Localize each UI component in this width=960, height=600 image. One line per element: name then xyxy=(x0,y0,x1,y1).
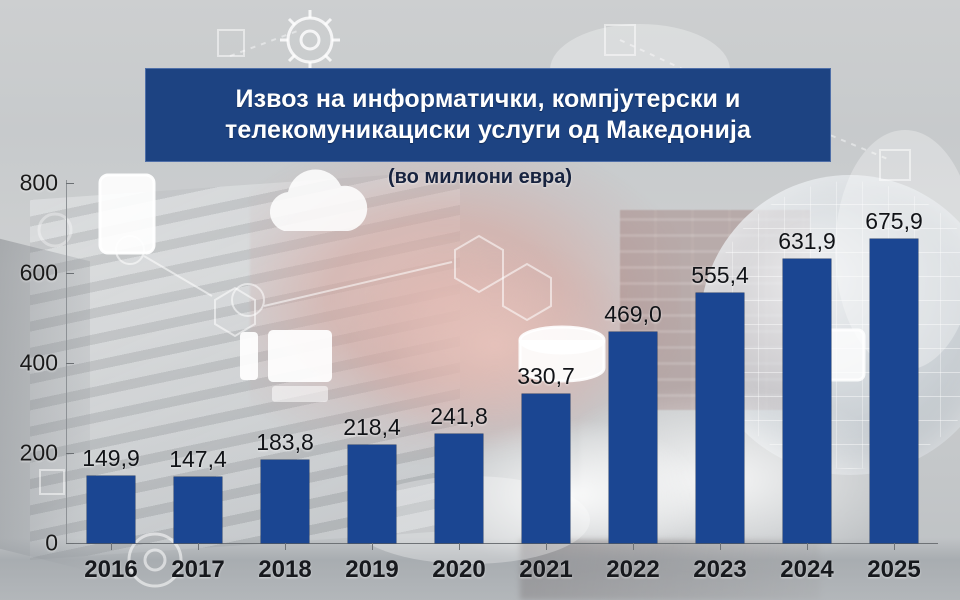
y-axis-label: 200 xyxy=(0,440,58,467)
bar[interactable] xyxy=(696,293,744,543)
bar-value-label: 183,8 xyxy=(256,429,314,456)
bar-value-label: 330,7 xyxy=(517,363,575,390)
bar[interactable] xyxy=(783,259,831,543)
bar-value-label: 469,0 xyxy=(604,301,662,328)
y-axis-label: 0 xyxy=(0,530,58,557)
chart-subtitle: (во милиони евра) xyxy=(0,166,960,189)
chart-title-banner: Извоз на информатички, компјутерски и те… xyxy=(145,68,831,162)
x-axis-label: 2019 xyxy=(345,556,398,584)
x-axis-label: 2024 xyxy=(780,556,833,584)
bar-value-label: 149,9 xyxy=(82,445,140,472)
bar[interactable] xyxy=(261,460,309,543)
x-axis-label: 2023 xyxy=(693,556,746,584)
x-axis-tick xyxy=(285,543,286,550)
chart-title-line-2: телекомуникациски услуги од Македонија xyxy=(225,115,751,146)
x-axis-label: 2017 xyxy=(171,556,224,584)
y-axis-label: 600 xyxy=(0,260,58,287)
x-axis-label: 2021 xyxy=(519,556,572,584)
bar[interactable] xyxy=(348,445,396,543)
x-axis-label: 2018 xyxy=(258,556,311,584)
bar[interactable] xyxy=(609,332,657,543)
chart-title-line-1: Извоз на информатички, компјутерски и xyxy=(236,84,741,115)
y-axis-tick xyxy=(66,543,74,544)
x-axis-tick xyxy=(807,543,808,550)
bar[interactable] xyxy=(870,239,918,543)
bar-value-label: 218,4 xyxy=(343,414,401,441)
x-axis-tick xyxy=(720,543,721,550)
bar[interactable] xyxy=(87,476,135,543)
x-axis-label: 2016 xyxy=(84,556,137,584)
y-axis-line xyxy=(66,180,67,544)
x-axis-tick xyxy=(111,543,112,550)
x-axis-tick xyxy=(198,543,199,550)
bar-value-label: 147,4 xyxy=(169,446,227,473)
bar[interactable] xyxy=(174,477,222,543)
y-axis-tick xyxy=(66,363,74,364)
bar[interactable] xyxy=(435,434,483,543)
x-axis-tick xyxy=(546,543,547,550)
x-axis-label: 2020 xyxy=(432,556,485,584)
bar-value-label: 241,8 xyxy=(430,403,488,430)
y-axis-tick xyxy=(66,453,74,454)
x-axis-tick xyxy=(372,543,373,550)
x-axis-label: 2025 xyxy=(867,556,920,584)
bar[interactable] xyxy=(522,394,570,543)
x-axis-tick xyxy=(894,543,895,550)
x-axis-tick xyxy=(459,543,460,550)
bar-value-label: 555,4 xyxy=(691,262,749,289)
x-axis-tick xyxy=(633,543,634,550)
x-axis-label: 2022 xyxy=(606,556,659,584)
bar-value-label: 631,9 xyxy=(778,228,836,255)
y-axis-label: 400 xyxy=(0,350,58,377)
y-axis-tick xyxy=(66,273,74,274)
bar-value-label: 675,9 xyxy=(865,208,923,235)
